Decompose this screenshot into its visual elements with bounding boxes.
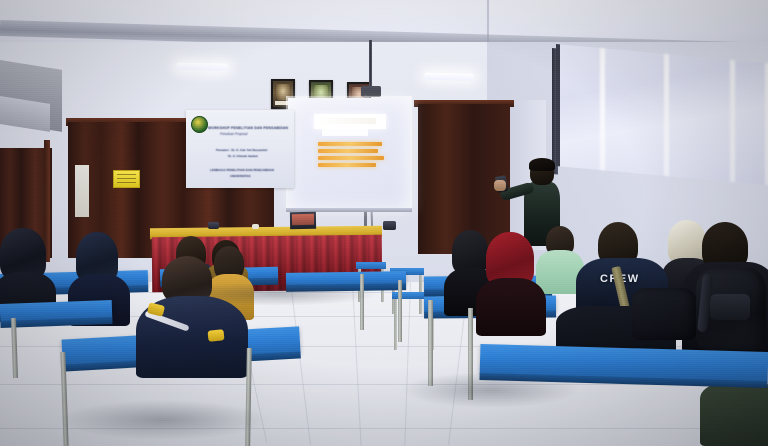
desk-leg-6 [398,280,402,342]
backpack-pocket [710,294,750,320]
desk-leg-3 [428,300,433,386]
projector-mount-rod [369,40,372,88]
presenter-hand [494,180,506,191]
desk-leg-5 [360,274,364,330]
wall-notice-paper [75,165,89,217]
table-shadow [170,282,380,306]
laptop [290,212,316,229]
yellow-notice-sign [113,170,140,188]
slide-text-line-3 [318,156,384,160]
floor-shadow-2 [400,372,580,408]
slide-subtitle-block [322,129,368,136]
whiteboard-glare-2 [664,54,669,176]
slide-title-block [314,114,386,129]
ceiling-light-1 [176,62,228,70]
banner-organizer-2: UNIVERSITAS [230,174,290,179]
event-banner: WORKSHOP PENELITIAN DAN PENGABDIAN Penul… [186,110,294,188]
projection-screen [288,98,410,210]
banner-speaker-1: Pemateri : Dr. H. Ade Yeti Nuryantini [216,148,290,153]
presenter-hair [529,158,555,171]
classroom-photo: WORKSHOP PENELITIAN DAN PENGABDIAN Penul… [0,0,768,446]
slide-text-line-4 [318,163,376,167]
door-frame [44,140,50,262]
bag-on-desk [632,288,696,340]
torso [700,384,768,446]
backpack [696,268,766,350]
table-equipment-2 [383,221,396,230]
slide-text-line-1 [318,142,382,146]
uniform-shoulder-patch-2 [207,329,224,342]
torso [476,278,546,336]
banner-organizer-1: LEMBAGA PENELITIAN DAN PENGABDIAN [210,168,290,173]
slide-text-line-2 [318,149,378,153]
desk-mid-left [0,300,112,322]
banner-subheading: Penulisan Proposal [220,132,290,137]
whiteboard[interactable] [556,44,768,186]
university-logo [191,116,208,133]
banner-speaker-2: Dr. H. Ahmad Jaelani [228,154,290,159]
whiteboard-glare-3 [730,60,735,182]
table-equipment-1 [208,222,219,229]
banner-heading: WORKSHOP PENELITIAN DAN PENGABDIAN [208,126,290,131]
table-papers [252,224,259,229]
ceiling-light-2 [424,72,474,80]
floor-shadow-1 [58,400,268,440]
whiteboard-glare-1 [600,48,605,170]
